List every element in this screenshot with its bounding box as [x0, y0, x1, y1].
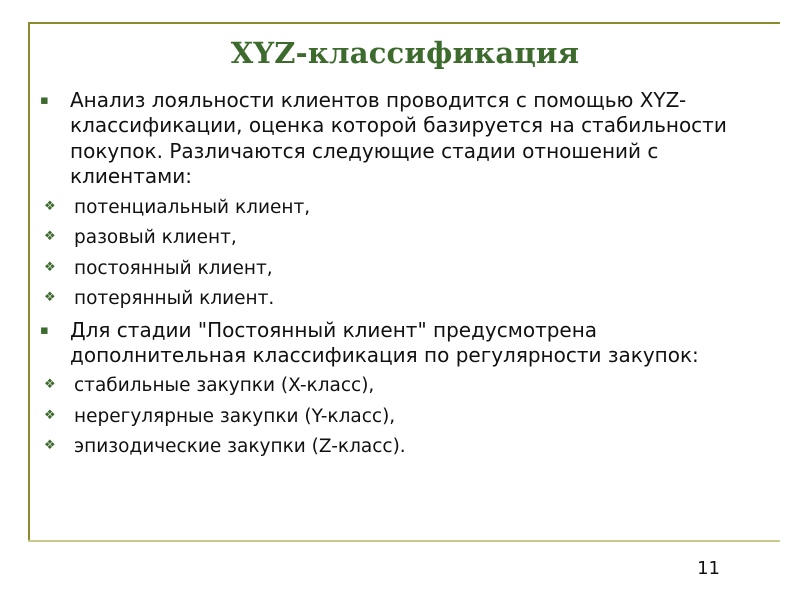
diamond-bullet-icon: ❖ [34, 229, 74, 246]
bullet-text: эпизодические закупки (Z-класс). [74, 435, 774, 458]
bullet-item: ▪ Анализ лояльности клиентов проводится … [34, 88, 774, 190]
square-bullet-icon: ▪ [34, 323, 70, 340]
frame-bottom-line [28, 540, 780, 542]
diamond-bullet-icon: ❖ [34, 408, 74, 425]
bullet-text: потенциальный клиент, [74, 196, 774, 219]
diamond-bullet-icon: ❖ [34, 377, 74, 394]
bullet-item: ▪ Для стадии "Постоянный клиент" предусм… [34, 318, 774, 369]
diamond-bullet-icon: ❖ [34, 438, 74, 455]
bullet-item: ❖ потенциальный клиент, [34, 196, 774, 219]
bullet-item: ❖ эпизодические закупки (Z-класс). [34, 435, 774, 458]
diamond-bullet-icon: ❖ [34, 260, 74, 277]
bullet-item: ❖ стабильные закупки (X-класс), [34, 374, 774, 397]
page-number: 11 [0, 558, 720, 579]
bullet-text: нерегулярные закупки (Y-класс), [74, 405, 774, 428]
slide-body: ▪ Анализ лояльности клиентов проводится … [34, 88, 774, 466]
bullet-text: Для стадии "Постоянный клиент" предусмот… [70, 318, 774, 369]
bullet-text: разовый клиент, [74, 226, 774, 249]
frame-left-line [28, 22, 30, 542]
diamond-bullet-icon: ❖ [34, 290, 74, 307]
diamond-bullet-icon: ❖ [34, 199, 74, 216]
bullet-text: постоянный клиент, [74, 257, 774, 280]
bullet-item: ❖ постоянный клиент, [34, 257, 774, 280]
bullet-text: потерянный клиент. [74, 287, 774, 310]
slide: XYZ-классификация ▪ Анализ лояльности кл… [0, 0, 800, 600]
square-bullet-icon: ▪ [34, 93, 70, 110]
slide-title: XYZ-классификация [40, 36, 770, 70]
bullet-text: Анализ лояльности клиентов проводится с … [70, 88, 774, 190]
bullet-item: ❖ потерянный клиент. [34, 287, 774, 310]
bullet-item: ❖ разовый клиент, [34, 226, 774, 249]
frame-top-line [28, 22, 780, 24]
bullet-text: стабильные закупки (X-класс), [74, 374, 774, 397]
bullet-item: ❖ нерегулярные закупки (Y-класс), [34, 405, 774, 428]
